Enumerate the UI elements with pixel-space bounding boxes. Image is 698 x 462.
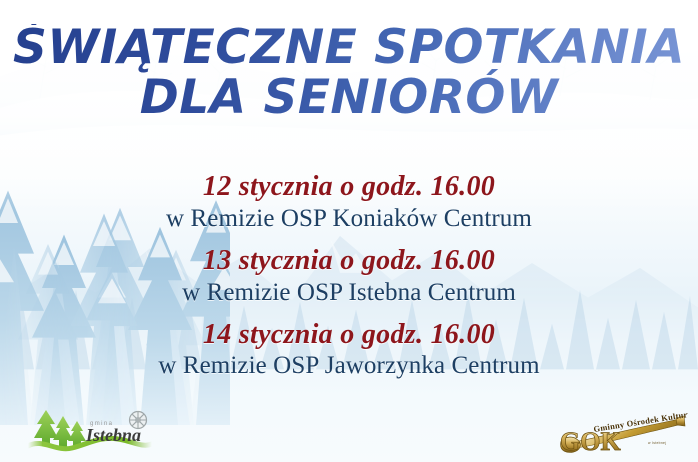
event-place: w Remizie OSP Koniaków Centrum [0, 204, 698, 234]
logo-istebna-name: Istebna [85, 425, 141, 445]
rosette-icon [130, 412, 147, 429]
logo-gok-subline: w Istebnej [648, 441, 666, 445]
event-list: 12 stycznia o godz. 16.00 w Remizie OSP … [0, 171, 698, 381]
event-date: 12 stycznia o godz. 16.00 [0, 171, 698, 202]
event-place: w Remizie OSP Jaworzynka Centrum [0, 351, 698, 381]
poster-content: ŚWIĄTECZNE SPOTKANIA DLA SENIORÓW 12 sty… [0, 0, 698, 462]
poster: ŚWIĄTECZNE SPOTKANIA DLA SENIORÓW 12 sty… [0, 0, 698, 462]
event-item: 13 stycznia o godz. 16.00 w Remizie OSP … [0, 245, 698, 307]
title-line-1: ŚWIĄTECZNE SPOTKANIA [13, 24, 685, 72]
logo-gmina-istebna: gmina Istebna [26, 406, 154, 456]
event-date: 13 stycznia o godz. 16.00 [0, 245, 698, 276]
logo-gok: GOK Gminny Ośrodek Kultury w Istebnej [556, 408, 688, 456]
event-item: 14 stycznia o godz. 16.00 w Remizie OSP … [0, 319, 698, 381]
page-title: ŚWIĄTECZNE SPOTKANIA DLA SENIORÓW [13, 24, 685, 122]
event-place: w Remizie OSP Istebna Centrum [0, 278, 698, 308]
logo-gok-acronym: GOK [560, 427, 621, 456]
event-item: 12 stycznia o godz. 16.00 w Remizie OSP … [0, 171, 698, 233]
title-line-2: DLA SENIORÓW [13, 74, 685, 122]
event-date: 14 stycznia o godz. 16.00 [0, 319, 698, 350]
